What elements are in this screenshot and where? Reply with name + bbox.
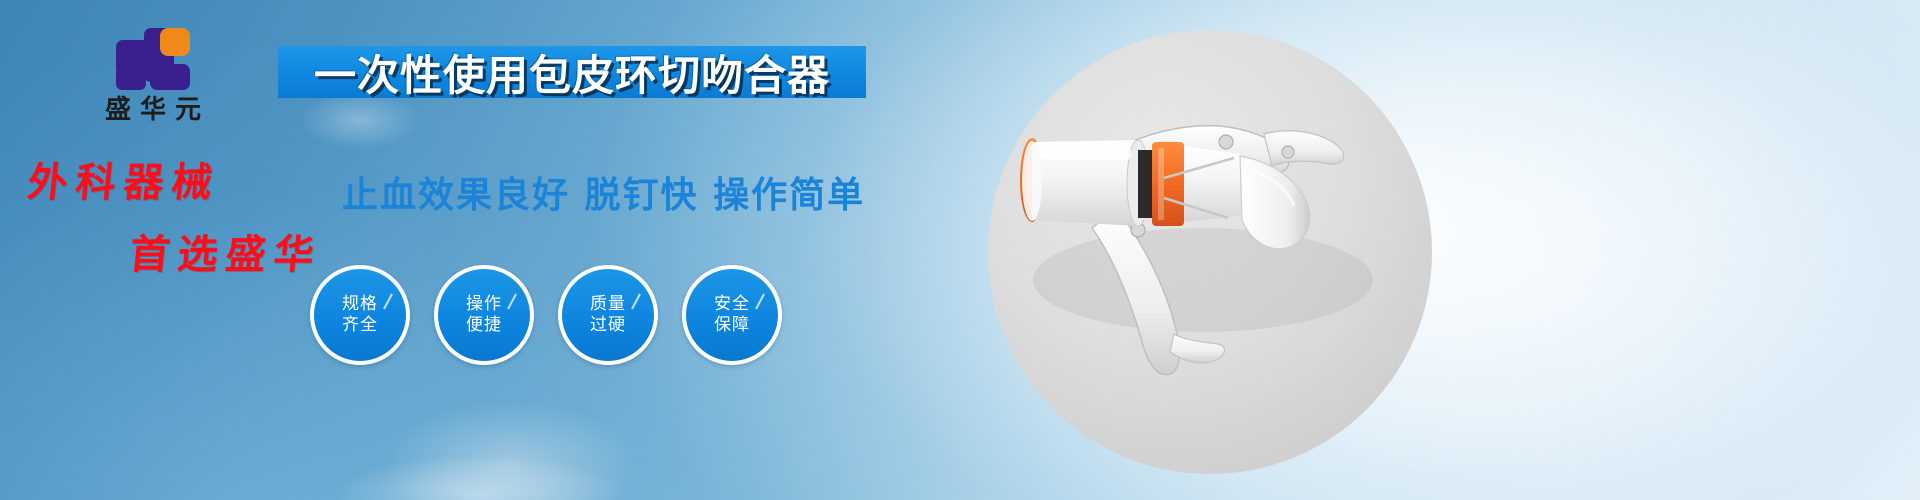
decorative-bottom-arc (330, 455, 630, 500)
brand-name: 盛华元 (58, 96, 248, 125)
device-collar-highlight (1158, 148, 1164, 220)
brand-logo[interactable]: 盛华元 (58, 28, 248, 125)
product-title-bar: 一次性使用包皮环切吻合器 (278, 46, 866, 98)
logo-mark-icon (116, 28, 190, 90)
logo-shape (150, 64, 190, 90)
logo-shape (116, 66, 146, 90)
promo-banner: 盛华元 一次性使用包皮环切吻合器 外科器械 首选盛华 止血效果良好 脱钉快 操作… (0, 0, 1920, 500)
feature-badge-2-line2: 便捷 (466, 315, 502, 336)
feature-badge-4[interactable]: 安全 保障 (682, 265, 782, 365)
feature-badge-3-line2: 过硬 (590, 315, 626, 336)
device-body-front (1022, 141, 1042, 221)
slash-accent-icon (507, 294, 517, 310)
slash-accent-icon (755, 294, 765, 310)
device-black-band (1138, 150, 1152, 218)
feature-badge-3[interactable]: 质量 过硬 (558, 265, 658, 365)
product-subtitle: 止血效果良好 脱钉快 操作简单 (342, 166, 865, 218)
device-orange-collar (1152, 142, 1184, 226)
device-pivot-upper (1219, 135, 1233, 149)
product-image (988, 30, 1432, 474)
feature-badge-list: 规格 齐全 操作 便捷 质量 过硬 安全 保障 (310, 265, 782, 365)
feature-badge-1-line1: 规格 (342, 294, 378, 315)
feature-badge-2[interactable]: 操作 便捷 (434, 265, 534, 365)
device-body-highlight (1040, 148, 1132, 160)
feature-badge-1-line2: 齐全 (342, 315, 378, 336)
page-title: 一次性使用包皮环切吻合器 (314, 42, 830, 103)
product-illustration (988, 30, 1432, 474)
feature-badge-4-line2: 保障 (714, 315, 750, 336)
slogan-line-1: 外科器械 (25, 150, 353, 208)
feature-badge-3-line1: 质量 (590, 294, 626, 315)
feature-badge-2-line1: 操作 (466, 294, 502, 315)
brand-slogan: 外科器械 首选盛华 (20, 150, 350, 280)
feature-badge-4-line1: 安全 (714, 294, 750, 315)
device-upper-arm-tip (1264, 131, 1344, 166)
feature-badge-1[interactable]: 规格 齐全 (310, 265, 410, 365)
slash-accent-icon (631, 294, 641, 310)
logo-shape-accent (160, 28, 190, 56)
device-pivot-upper-2 (1282, 146, 1294, 158)
slash-accent-icon (383, 294, 393, 310)
